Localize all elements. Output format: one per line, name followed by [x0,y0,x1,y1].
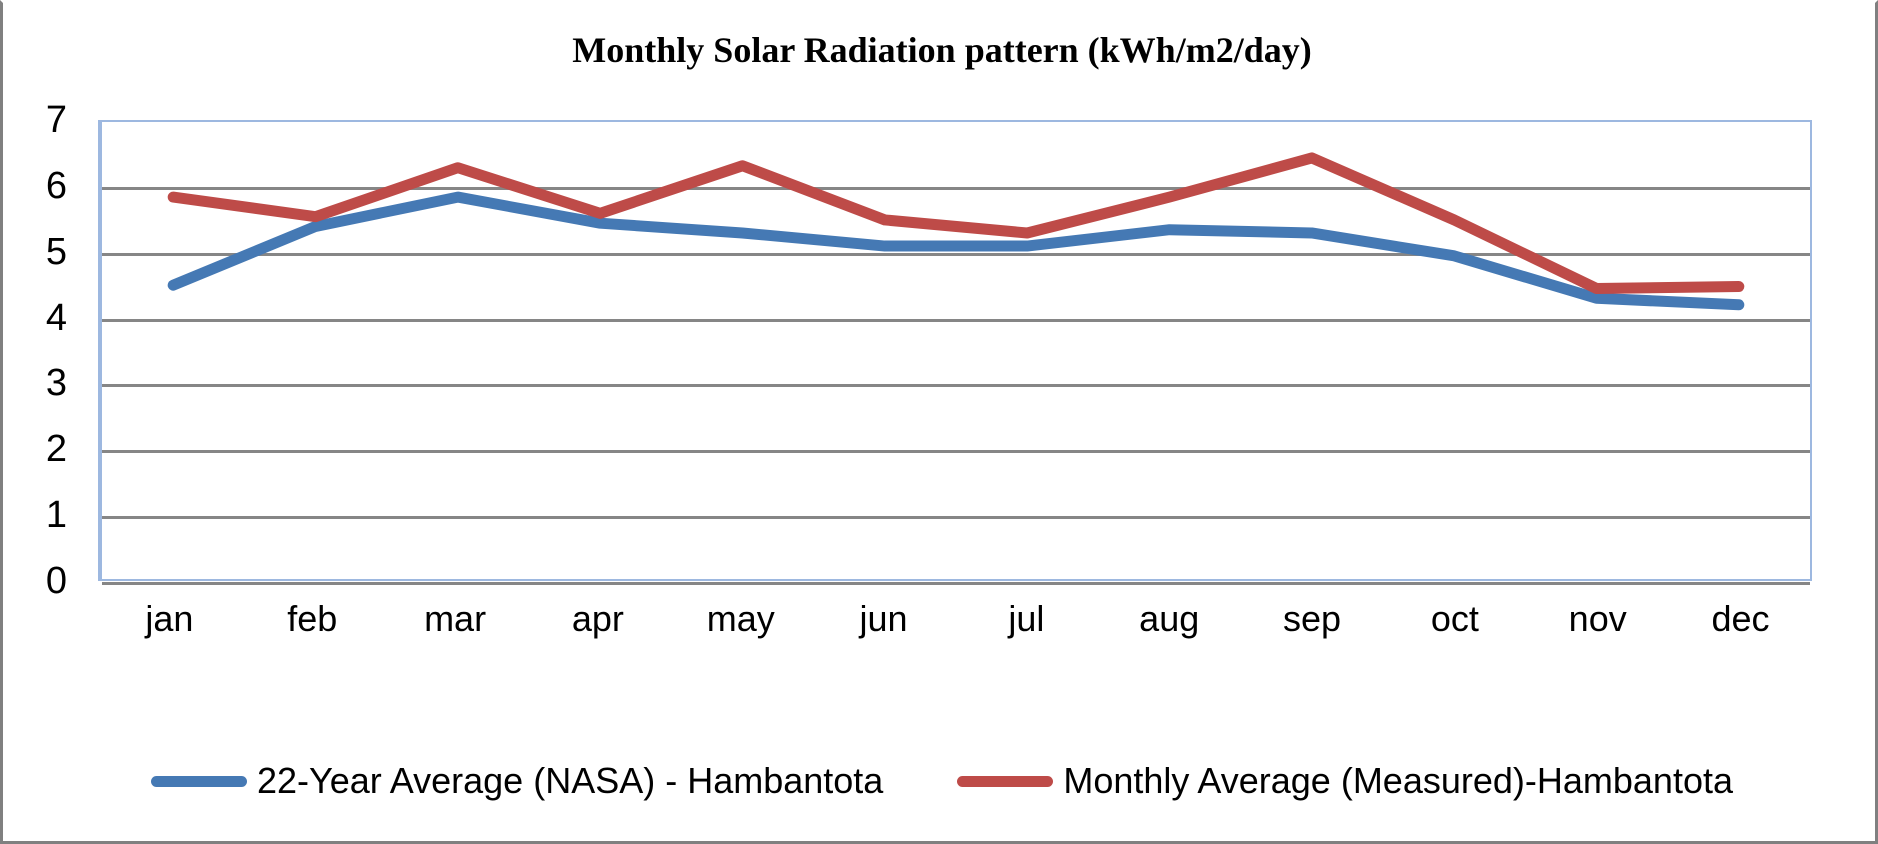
x-tick-label: sep [1241,599,1384,659]
x-axis: janfebmaraprmayjunjulaugsepoctnovdec [98,599,1812,659]
y-tick-label: 0 [3,562,81,600]
y-tick-label: 2 [3,430,81,468]
series-line-0 [173,197,1739,305]
chart-legend: 22-Year Average (NASA) - HambantotaMonth… [3,763,1878,799]
legend-label: 22-Year Average (NASA) - Hambantota [257,763,883,799]
x-tick-label: oct [1383,599,1526,659]
legend-line-swatch-icon [151,776,247,787]
gridline [102,582,1810,585]
y-tick-label: 6 [3,167,81,205]
y-tick-label: 5 [3,233,81,271]
y-tick-label: 7 [3,101,81,139]
x-tick-label: mar [384,599,527,659]
legend-item-0[interactable]: 22-Year Average (NASA) - Hambantota [151,763,883,799]
series-lines [102,122,1810,579]
x-tick-label: jun [812,599,955,659]
x-tick-label: may [669,599,812,659]
chart-title: Monthly Solar Radiation pattern (kWh/m2/… [3,29,1878,71]
x-tick-label: apr [526,599,669,659]
legend-label: Monthly Average (Measured)-Hambantota [1063,763,1733,799]
y-tick-label: 3 [3,364,81,402]
legend-line-swatch-icon [957,776,1053,787]
x-tick-label: aug [1098,599,1241,659]
y-tick-label: 4 [3,299,81,337]
x-tick-label: jul [955,599,1098,659]
chart-container: Monthly Solar Radiation pattern (kWh/m2/… [0,0,1878,844]
x-tick-label: jan [98,599,241,659]
x-tick-label: dec [1669,599,1812,659]
legend-item-1[interactable]: Monthly Average (Measured)-Hambantota [957,763,1733,799]
y-axis: 76543210 [3,120,81,581]
y-tick-label: 1 [3,496,81,534]
x-tick-label: feb [241,599,384,659]
plot-area [98,120,1812,581]
x-tick-label: nov [1526,599,1669,659]
